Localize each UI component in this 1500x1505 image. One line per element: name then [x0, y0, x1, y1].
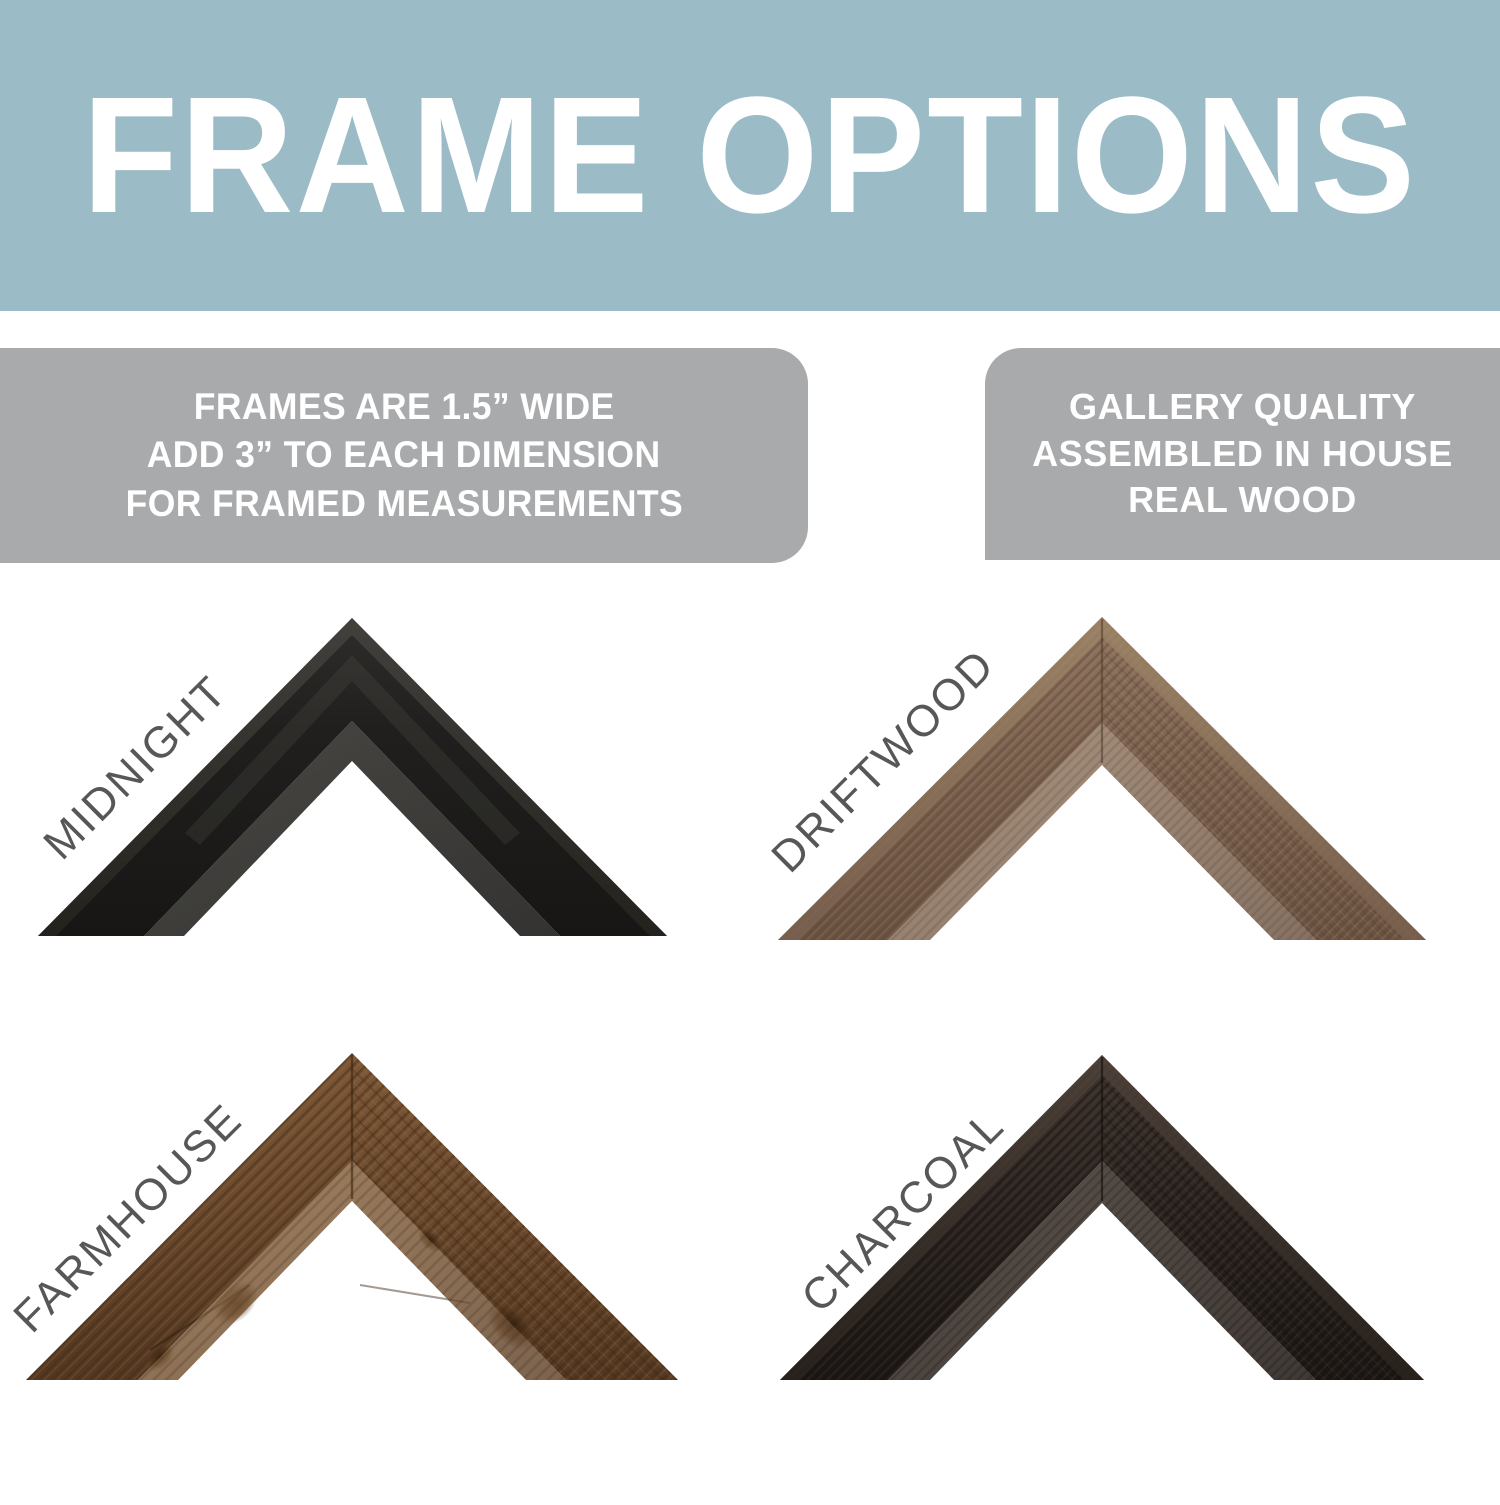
frame-corner-icon: [750, 1035, 1500, 1505]
frame-corner-icon: [0, 595, 750, 1065]
info-line: ADD 3” TO EACH DIMENSION: [147, 431, 661, 479]
info-line: GALLERY QUALITY: [1069, 384, 1416, 431]
page-title: FRAME OPTIONS: [83, 73, 1418, 239]
frame-sample-midnight[interactable]: MIDNIGHT: [0, 595, 750, 1065]
frame-sample-charcoal[interactable]: CHARCOAL: [750, 1035, 1500, 1505]
header-banner: FRAME OPTIONS: [0, 0, 1500, 311]
frame-corner-icon: [0, 1035, 750, 1505]
info-panel-measurements: FRAMES ARE 1.5” WIDE ADD 3” TO EACH DIME…: [0, 348, 808, 563]
info-line: FRAMES ARE 1.5” WIDE: [194, 383, 615, 431]
frame-sample-driftwood[interactable]: DRIFTWOOD: [750, 595, 1500, 1065]
frame-corner-icon: [750, 595, 1500, 1065]
frame-sample-farmhouse[interactable]: FARMHOUSE: [0, 1035, 750, 1505]
info-line: REAL WOOD: [1128, 477, 1357, 524]
info-line: FOR FRAMED MEASUREMENTS: [125, 480, 682, 528]
info-panel-quality: GALLERY QUALITY ASSEMBLED IN HOUSE REAL …: [985, 348, 1500, 560]
info-line: ASSEMBLED IN HOUSE: [1032, 431, 1453, 478]
